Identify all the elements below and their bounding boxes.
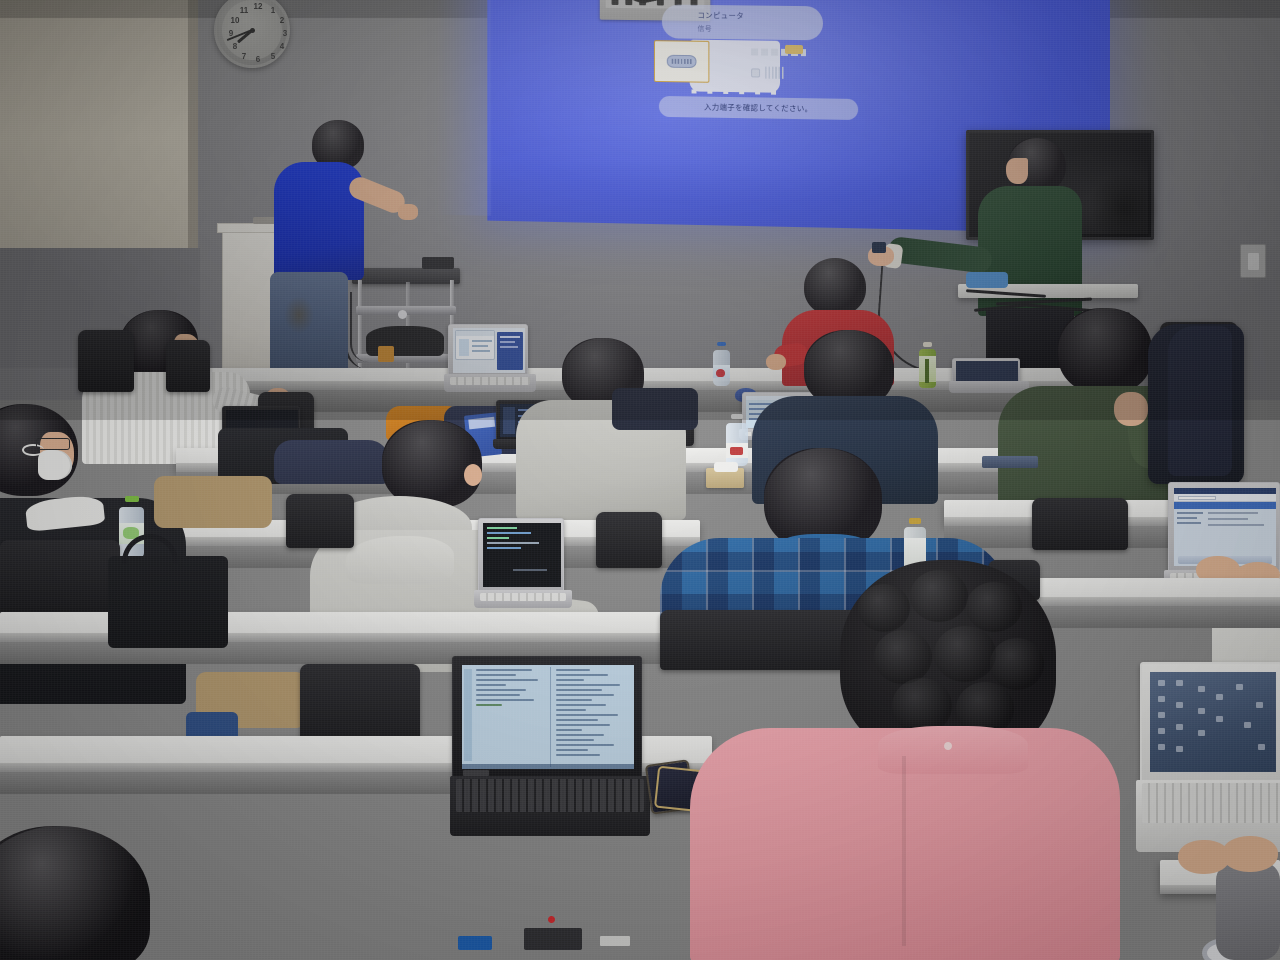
thinkpad-foreground [452, 656, 648, 836]
keyboard[interactable] [456, 779, 644, 812]
classroom-photo: 12 1 2 3 4 5 6 7 8 9 10 11 [0, 0, 1280, 960]
intel-sticker [458, 936, 492, 950]
letsnote-bottom-right [1140, 662, 1280, 852]
laptop-lid [452, 656, 642, 780]
wall-vignette [0, 0, 1280, 420]
attendee-pink-shirt [690, 560, 1120, 960]
khaki-trousers [154, 476, 272, 528]
laptop-base [450, 776, 650, 836]
editor-sidebar [464, 669, 472, 761]
chair-backrest [286, 494, 354, 548]
head [382, 420, 482, 508]
laptop-screen-terminal [483, 523, 561, 587]
thinkpad-logo [600, 936, 630, 946]
head [0, 826, 150, 960]
collar-button [944, 742, 952, 750]
black-shoulder-bag [108, 556, 228, 648]
hood-fold [346, 536, 454, 584]
shirt-seam [902, 756, 906, 946]
laptop-screen-browser [1174, 488, 1276, 566]
face-mask [38, 450, 72, 480]
laptop-base [474, 590, 572, 608]
macbook-grey-hoodie [478, 518, 574, 614]
chair-backrest [596, 512, 662, 568]
chair-backrest [0, 540, 120, 620]
attendee-bottom-left [0, 826, 170, 960]
status-bar [462, 764, 634, 769]
laptop-lid [478, 518, 564, 592]
trackpad[interactable] [524, 928, 582, 950]
laptop-lid [1140, 662, 1280, 782]
eyeglasses [36, 438, 70, 450]
laptop-screen-desktop [1150, 672, 1276, 772]
hand-on-laptop [1178, 836, 1278, 896]
keyboard[interactable] [480, 593, 566, 601]
trackpoint-nub[interactable] [548, 916, 555, 923]
ear [464, 464, 482, 486]
shirt-collar [878, 726, 1028, 774]
keyboard[interactable] [1142, 783, 1280, 823]
chair-backrest [1032, 498, 1128, 550]
laptop-screen-editor [462, 665, 634, 769]
desk-row-4 [0, 612, 690, 642]
